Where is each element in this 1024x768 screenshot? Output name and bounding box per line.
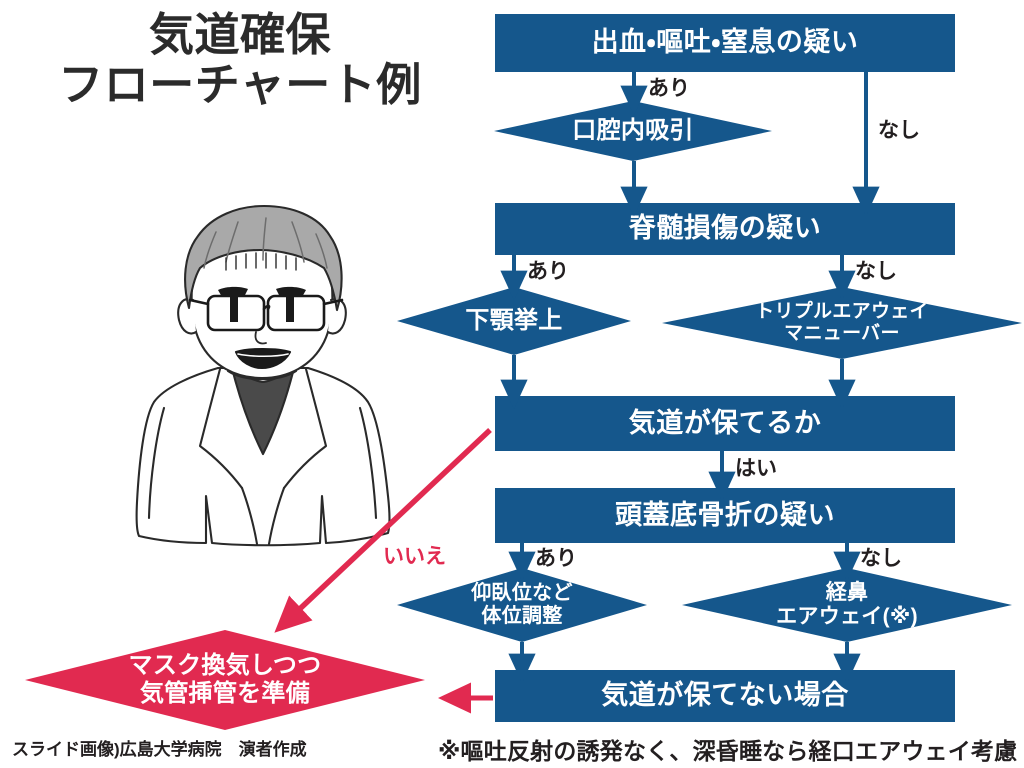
node-supine-positioning[interactable]: 仰臥位など 体位調整 (397, 568, 647, 642)
node-mask-ventilation-prepare-intubation[interactable]: マスク換気しつつ 気管挿管を準備 (25, 630, 425, 730)
footnote-text: ※嘔吐反射の誘発なく、深昏睡なら経口エアウェイ考慮 (438, 732, 1017, 766)
node-suspect-spinal-injury[interactable]: 脊髄損傷の疑い (495, 203, 955, 255)
node-supine-positioning-label: 仰臥位など 体位調整 (471, 582, 573, 628)
node-suspect-basilar-skull-fracture-label: 頭蓋底骨折の疑い (615, 500, 835, 532)
edge-label-bleeding-no: なし (878, 120, 920, 141)
node-airway-maintainable[interactable]: 気道が保てるか (495, 396, 955, 451)
page-title-line2: フローチャート例 (10, 60, 470, 110)
edge-label-airway-yes: はい (735, 458, 777, 479)
node-jaw-thrust-label: 下顎挙上 (465, 307, 562, 335)
doctor-with-glasses-illustration (120, 196, 410, 556)
edge-label-spinal-yes: あり (527, 261, 569, 282)
node-nasal-airway-label-line1: 経鼻 (826, 581, 869, 604)
node-suspect-bleeding-label: 出血・嘔吐・窒息の疑い (592, 27, 859, 59)
node-triple-airway-maneuver[interactable]: トリプルエアウェイ マニューバー (662, 287, 1022, 359)
page-title-line1: 気道確保 (10, 10, 470, 60)
slide-canvas: 気道確保 フローチャート例 (0, 0, 1024, 768)
node-nasal-airway[interactable]: 経鼻 エアウェイ(※) (682, 568, 1012, 642)
node-oral-suction-label: 口腔内吸引 (572, 117, 694, 145)
edge-label-skull-yes: あり (535, 548, 577, 569)
node-triple-airway-maneuver-label-line1: トリプルエアウェイ (755, 301, 929, 322)
node-suspect-bleeding[interactable]: 出血・嘔吐・窒息の疑い (495, 14, 955, 72)
edge-label-skull-no: なし (860, 548, 902, 569)
node-mask-ventilation-label-line2: 気管挿管を準備 (140, 680, 310, 707)
node-mask-ventilation-prepare-intubation-label: マスク換気しつつ 気管挿管を準備 (129, 652, 322, 707)
edge-label-bleeding-yes: あり (648, 78, 690, 99)
node-mask-ventilation-label-line1: マスク換気しつつ (129, 652, 322, 679)
node-oral-suction[interactable]: 口腔内吸引 (494, 101, 772, 161)
node-jaw-thrust[interactable]: 下顎挙上 (397, 287, 631, 355)
node-suspect-spinal-injury-label: 脊髄損傷の疑い (629, 213, 822, 245)
node-triple-airway-maneuver-label: トリプルエアウェイ マニューバー (755, 301, 929, 345)
footer-credit: スライド画像)広島大学病院 演者作成 (12, 735, 307, 760)
node-supine-positioning-label-line2: 体位調整 (481, 605, 562, 627)
node-airway-maintainable-label: 気道が保てるか (629, 408, 822, 440)
node-triple-airway-maneuver-label-line2: マニューバー (784, 323, 900, 344)
node-suspect-basilar-skull-fracture[interactable]: 頭蓋底骨折の疑い (495, 488, 955, 543)
page-title: 気道確保 フローチャート例 (10, 10, 470, 111)
edge-label-airway-no: いいえ (383, 546, 446, 567)
node-airway-not-maintainable[interactable]: 気道が保てない場合 (495, 670, 955, 722)
node-airway-not-maintainable-label: 気道が保てない場合 (601, 680, 849, 712)
node-nasal-airway-label-line2: エアウェイ(※) (776, 605, 918, 628)
node-nasal-airway-label: 経鼻 エアウェイ(※) (776, 581, 918, 629)
edge-label-spinal-no: なし (855, 261, 897, 282)
node-supine-positioning-label-line1: 仰臥位など (471, 582, 573, 604)
